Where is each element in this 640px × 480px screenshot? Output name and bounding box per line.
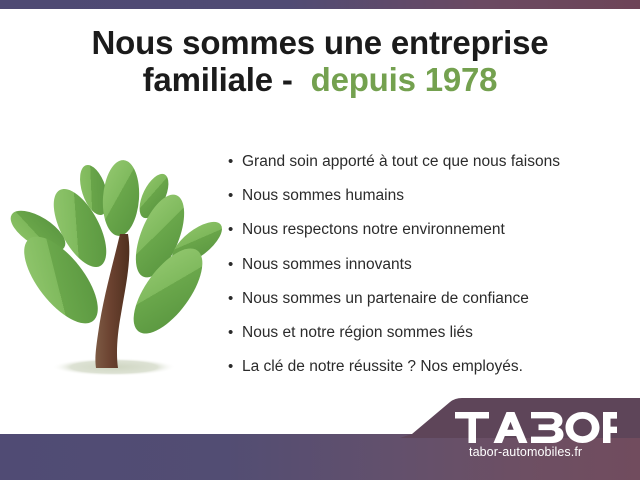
brand-website-label[interactable]: tabor-automobiles.fr bbox=[469, 445, 635, 459]
tree-illustration bbox=[8, 158, 224, 384]
brand-logo[interactable]: tabor-automobiles.fr bbox=[455, 412, 635, 459]
bullet-dot-icon: • bbox=[228, 220, 242, 240]
bullet-dot-icon: • bbox=[228, 357, 242, 377]
tree-icon bbox=[8, 158, 224, 384]
page-title: Nous sommes une entreprise familiale - d… bbox=[0, 24, 640, 99]
bullet-dot-icon: • bbox=[228, 323, 242, 343]
list-item-label: La clé de notre réussite ? Nos employés. bbox=[242, 357, 633, 377]
bullet-dot-icon: • bbox=[228, 255, 242, 275]
page-title-dash: - bbox=[273, 61, 311, 98]
list-item: • Nous sommes un partenaire de confiance bbox=[228, 289, 633, 323]
list-item: • Nous sommes innovants bbox=[228, 255, 633, 289]
list-item: • Nous et notre région sommes liés bbox=[228, 323, 633, 357]
tabor-logotype-icon bbox=[455, 412, 617, 444]
benefits-list: • Grand soin apporté à tout ce que nous … bbox=[228, 152, 633, 391]
list-item-label: Nous sommes humains bbox=[242, 186, 633, 206]
list-item: • Nous respectons notre environnement bbox=[228, 220, 633, 254]
bullet-dot-icon: • bbox=[228, 152, 242, 172]
bullet-dot-icon: • bbox=[228, 289, 242, 309]
page-title-line-2-prefix: familiale bbox=[143, 61, 273, 98]
list-item: • La clé de notre réussite ? Nos employé… bbox=[228, 357, 633, 391]
page-title-line-1: Nous sommes une entreprise bbox=[0, 24, 640, 61]
top-accent-bar bbox=[0, 0, 640, 9]
list-item-label: Nous et notre région sommes liés bbox=[242, 323, 633, 343]
slide-root: Nous sommes une entreprise familiale - d… bbox=[0, 0, 640, 480]
list-item: • Nous sommes humains bbox=[228, 186, 633, 220]
list-item-label: Nous sommes un partenaire de confiance bbox=[242, 289, 633, 309]
list-item: • Grand soin apporté à tout ce que nous … bbox=[228, 152, 633, 186]
page-title-accent: depuis 1978 bbox=[311, 61, 498, 98]
list-item-label: Nous sommes innovants bbox=[242, 255, 633, 275]
page-title-line-2: familiale - depuis 1978 bbox=[0, 61, 640, 98]
list-item-label: Nous respectons notre environnement bbox=[242, 220, 633, 240]
brand-wordmark-tabor bbox=[455, 412, 635, 444]
bullet-dot-icon: • bbox=[228, 186, 242, 206]
list-item-label: Grand soin apporté à tout ce que nous fa… bbox=[242, 152, 633, 172]
